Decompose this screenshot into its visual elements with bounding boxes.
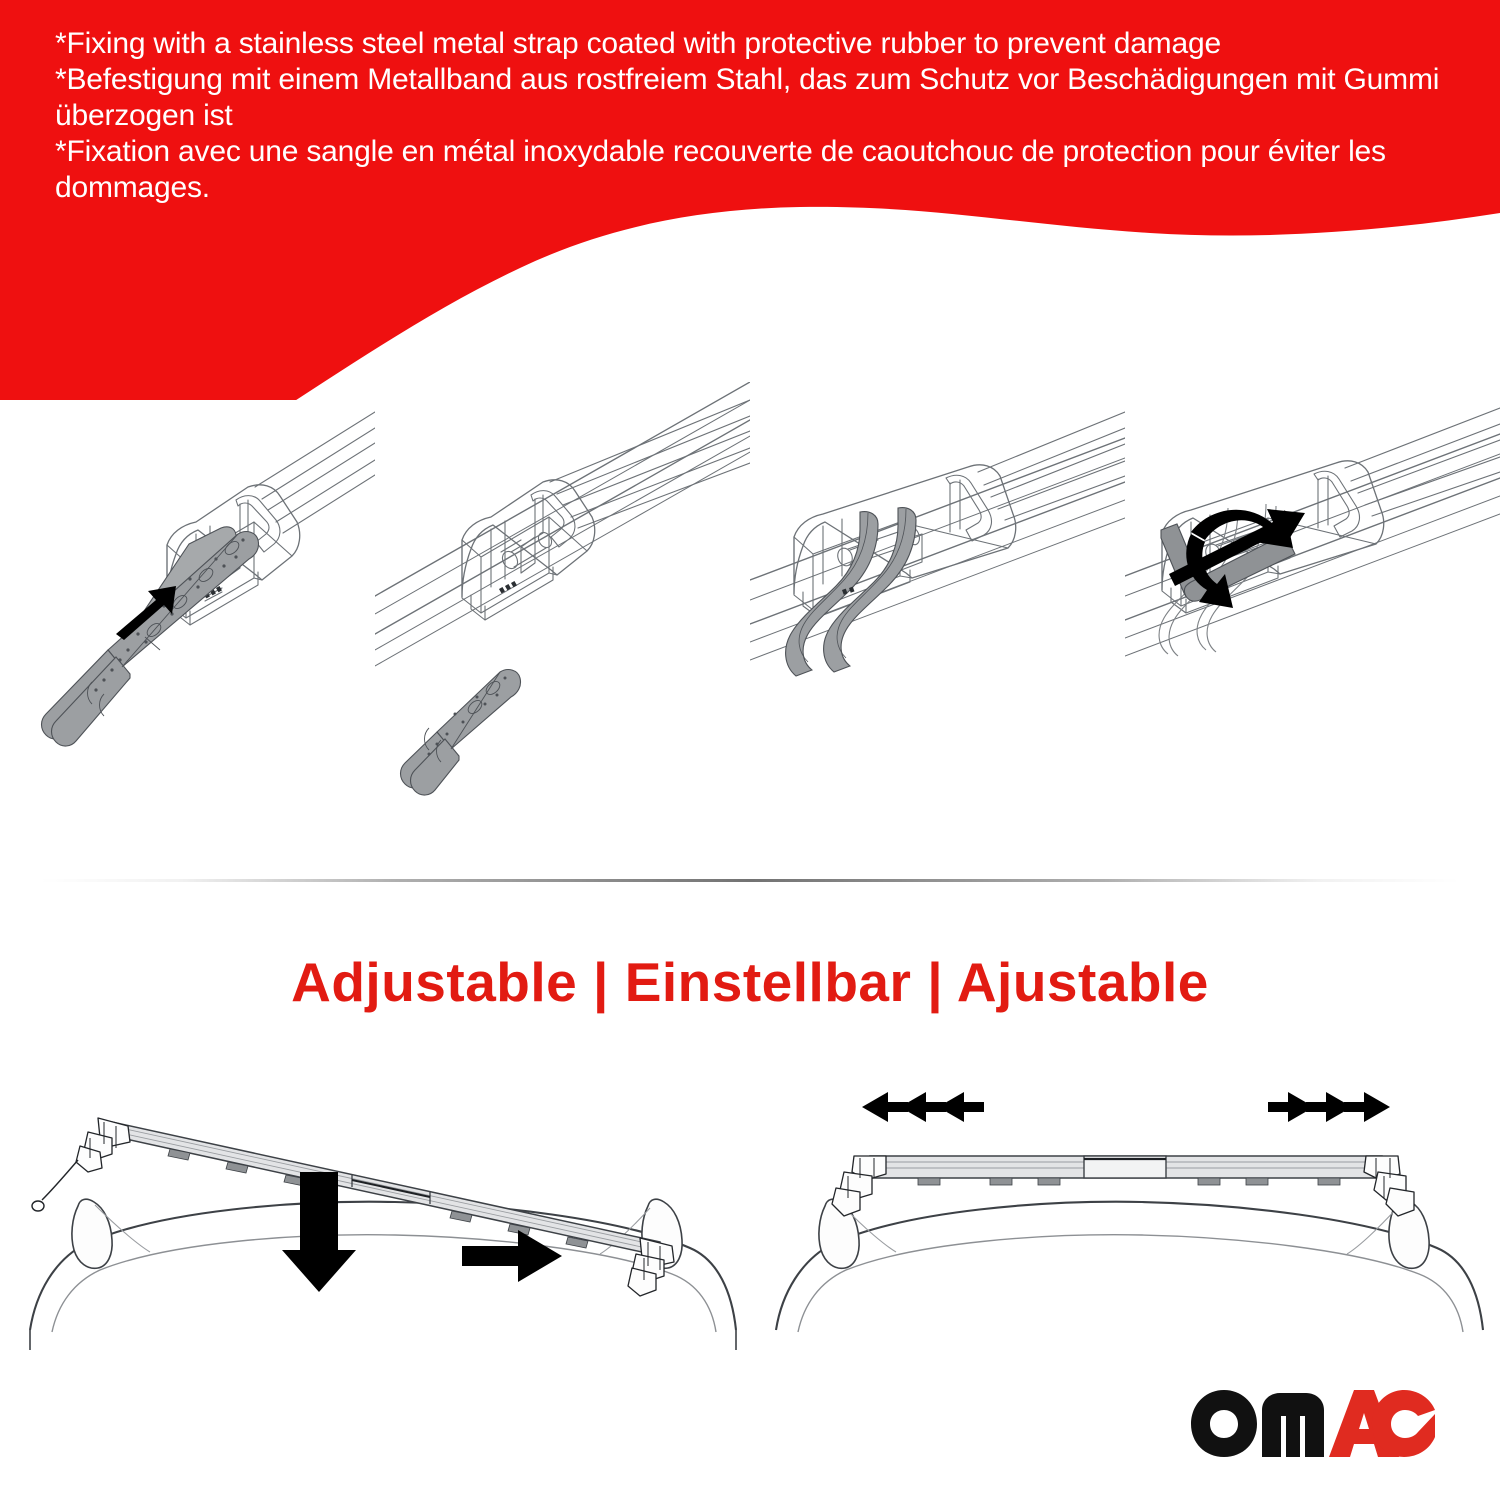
logo-letter-m bbox=[1262, 1393, 1324, 1457]
banner-text: *Fixing with a stainless steel metal str… bbox=[55, 26, 1455, 206]
logo-letter-o bbox=[1191, 1390, 1257, 1457]
logo-letter-c bbox=[1372, 1390, 1435, 1457]
triple-right-arrow-icon bbox=[1268, 1092, 1390, 1122]
step-4-tighten-allen-key bbox=[1125, 382, 1500, 872]
crossbar-width-adjust-diagram bbox=[750, 1060, 1500, 1400]
step-3-illustration bbox=[750, 382, 1125, 872]
adjustable-heading: Adjustable | Einstellbar | Ajustable bbox=[0, 950, 1500, 1014]
crossbar-placement-illustration bbox=[0, 1060, 750, 1400]
step-2-strap-under-rail bbox=[375, 382, 750, 872]
red-banner: *Fixing with a stainless steel metal str… bbox=[0, 0, 1500, 400]
omac-logo-mark bbox=[1188, 1386, 1438, 1460]
section-divider bbox=[40, 879, 1460, 882]
triple-left-arrow-icon bbox=[862, 1092, 984, 1122]
step-4-illustration bbox=[1125, 382, 1500, 872]
crossbar-width-illustration bbox=[750, 1060, 1500, 1400]
crossbar-placement-diagram bbox=[0, 1060, 750, 1400]
bottom-diagrams bbox=[0, 1060, 1500, 1400]
product-infographic-page: *Fixing with a stainless steel metal str… bbox=[0, 0, 1500, 1500]
right-arrow-icon bbox=[462, 1230, 562, 1282]
step-3-strap-wrapped bbox=[750, 382, 1125, 872]
down-arrow-icon bbox=[282, 1172, 356, 1292]
omac-logo bbox=[1188, 1386, 1438, 1460]
step-1-insert-strap bbox=[0, 382, 375, 872]
step-1-illustration bbox=[0, 382, 375, 872]
step-2-illustration bbox=[375, 382, 750, 872]
assembly-steps bbox=[0, 382, 1500, 872]
